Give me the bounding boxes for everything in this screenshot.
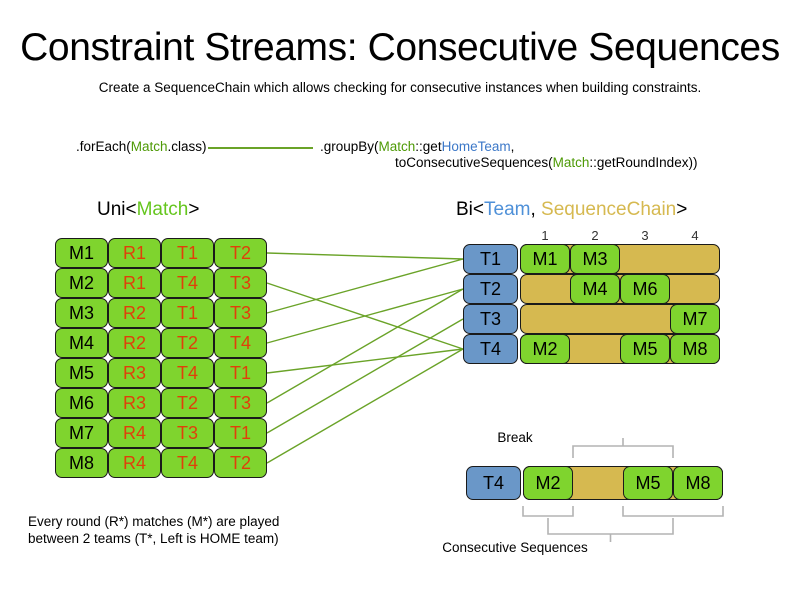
match-team-link: [267, 289, 463, 343]
code-foreach: .forEach(Match.class): [76, 139, 207, 154]
away-team-cell: T1: [214, 358, 267, 388]
bi-column-header: 1: [533, 228, 557, 243]
match-id-cell: M4: [55, 328, 108, 358]
consecutive-sequences-brace: [548, 518, 673, 542]
break-label: Break: [497, 430, 532, 445]
bi-column-header: 2: [583, 228, 607, 243]
bi-label-comma: ,: [530, 199, 541, 220]
match-in-sequence-cell: M2: [520, 334, 570, 364]
code-groupby-type: Match: [379, 139, 416, 154]
slide-canvas: Constraint Streams: Consecutive Sequence…: [0, 0, 800, 600]
round-cell: R3: [108, 358, 161, 388]
home-team-cell: T2: [161, 328, 214, 358]
match-team-link: [267, 253, 463, 259]
team-cell: T3: [463, 304, 518, 334]
match-in-sequence-cell: M2: [523, 466, 573, 500]
bi-label-type-team: Team: [484, 199, 530, 220]
home-team-cell: T4: [161, 358, 214, 388]
away-team-cell: T4: [214, 328, 267, 358]
bi-label-prefix: Bi<: [456, 199, 484, 220]
bi-label-type-sequencechain: SequenceChain: [541, 199, 676, 220]
match-in-sequence-cell: M8: [673, 466, 723, 500]
match-team-link: [267, 349, 463, 373]
sequence-brace-left: [523, 506, 573, 516]
code-groupby-comma: ,: [511, 139, 515, 154]
uni-label-prefix: Uni<: [97, 199, 137, 220]
table-row: M8R4T4T2: [55, 448, 267, 478]
bi-stream-label: Bi<Team, SequenceChain>: [456, 199, 687, 221]
sequence-brace-right: [623, 506, 723, 516]
away-team-cell: T3: [214, 298, 267, 328]
match-team-link: [267, 319, 463, 433]
code-groupby-prop: HomeTeam: [442, 139, 511, 154]
bi-column-header: 4: [683, 228, 707, 243]
code-groupby-prefix: .groupBy(: [320, 139, 379, 154]
match-id-cell: M6: [55, 388, 108, 418]
code-connector-line: [208, 147, 313, 149]
table-row: M3R2T1T3: [55, 298, 267, 328]
table-row: M2R1T4T3: [55, 268, 267, 298]
table-row: T2M4M6: [463, 274, 716, 304]
table-row: M4R2T2T4: [55, 328, 267, 358]
match-in-sequence-cell: M3: [570, 244, 620, 274]
round-cell: R1: [108, 238, 161, 268]
footnote: Every round (R*) matches (M*) are played…: [28, 513, 279, 547]
team-cell: T4: [466, 466, 521, 500]
match-id-cell: M1: [55, 238, 108, 268]
page-title: Constraint Streams: Consecutive Sequence…: [0, 26, 800, 70]
home-team-cell: T1: [161, 298, 214, 328]
code-foreach-suffix: .class): [168, 139, 207, 154]
code-tocons-prefix: toConsecutiveSequences(: [395, 155, 553, 170]
page-subtitle: Create a SequenceChain which allows chec…: [0, 80, 800, 95]
match-in-sequence-cell: M1: [520, 244, 570, 274]
away-team-cell: T3: [214, 388, 267, 418]
match-in-sequence-cell: M8: [670, 334, 720, 364]
code-tocons-suffix: ::getRoundIndex)): [589, 155, 697, 170]
match-team-link: [267, 289, 463, 403]
home-team-cell: T4: [161, 448, 214, 478]
bi-team-sequence-table: T1M1M3T2M4M6T3M7T4M2M5M8: [463, 244, 716, 364]
team-cell: T4: [463, 334, 518, 364]
round-cell: R1: [108, 268, 161, 298]
code-foreach-prefix: .forEach(: [76, 139, 131, 154]
match-in-sequence-cell: M5: [623, 466, 673, 500]
break-diagram: T4M2M5M8: [466, 466, 716, 500]
round-cell: R4: [108, 448, 161, 478]
table-row: M5R3T4T1: [55, 358, 267, 388]
round-cell: R2: [108, 328, 161, 358]
match-team-link: [267, 283, 463, 349]
table-row: M1R1T1T2: [55, 238, 267, 268]
match-id-cell: M8: [55, 448, 108, 478]
code-groupby: .groupBy(Match::getHomeTeam,: [320, 139, 514, 154]
match-team-link: [267, 259, 463, 313]
uni-stream-label: Uni<Match>: [97, 199, 199, 221]
uni-label-type: Match: [137, 199, 189, 220]
consecutive-sequences-label: Consecutive Sequences: [442, 540, 588, 555]
uni-label-suffix: >: [188, 199, 199, 220]
home-team-cell: T2: [161, 388, 214, 418]
code-to-consecutive-sequences: toConsecutiveSequences(Match::getRoundIn…: [395, 155, 697, 170]
round-cell: R3: [108, 388, 161, 418]
table-row: T3M7: [463, 304, 716, 334]
match-in-sequence-cell: M6: [620, 274, 670, 304]
match-id-cell: M2: [55, 268, 108, 298]
code-groupby-mid: ::get: [415, 139, 441, 154]
code-foreach-type: Match: [131, 139, 168, 154]
team-cell: T2: [463, 274, 518, 304]
table-row: T4M2M5M8: [463, 334, 716, 364]
match-in-sequence-cell: M5: [620, 334, 670, 364]
match-team-link: [267, 349, 463, 463]
match-id-cell: M3: [55, 298, 108, 328]
away-team-cell: T2: [214, 448, 267, 478]
table-row: M6R3T2T3: [55, 388, 267, 418]
bi-column-header: 3: [633, 228, 657, 243]
team-cell: T1: [463, 244, 518, 274]
home-team-cell: T4: [161, 268, 214, 298]
away-team-cell: T2: [214, 238, 267, 268]
break-label-wrap: Break: [0, 430, 800, 445]
bi-label-suffix: >: [676, 199, 687, 220]
table-row: T1M1M3: [463, 244, 716, 274]
round-cell: R2: [108, 298, 161, 328]
code-tocons-type: Match: [553, 155, 590, 170]
match-in-sequence-cell: M7: [670, 304, 720, 334]
match-in-sequence-cell: M4: [570, 274, 620, 304]
home-team-cell: T1: [161, 238, 214, 268]
match-id-cell: M5: [55, 358, 108, 388]
away-team-cell: T3: [214, 268, 267, 298]
